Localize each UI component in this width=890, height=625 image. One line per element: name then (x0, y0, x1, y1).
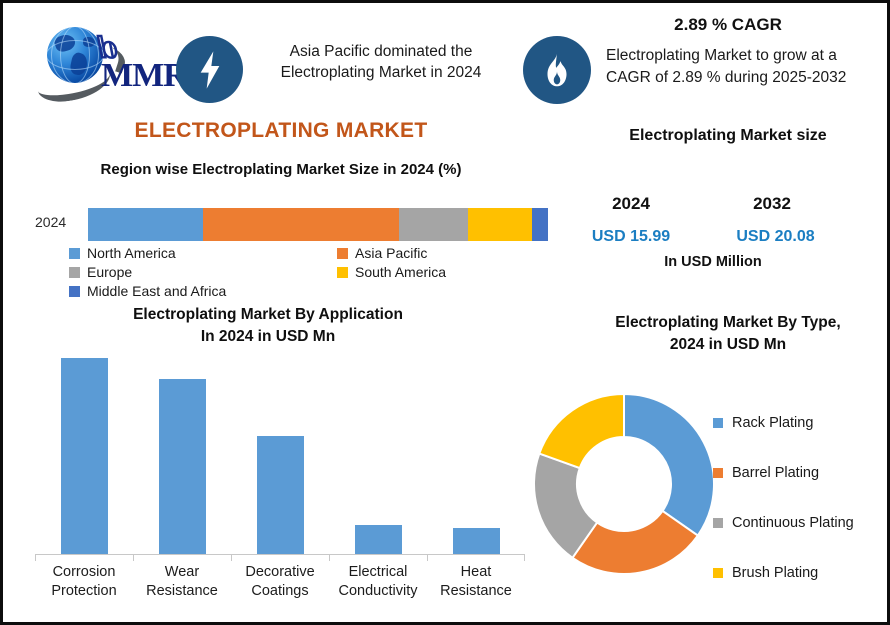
application-category-label: WearResistance (133, 563, 231, 602)
application-category-label-line: Resistance (427, 582, 525, 601)
application-bar-chart: CorrosionProtectionWearResistanceDecorat… (35, 348, 525, 558)
header-note: Asia Pacific dominated the Electroplatin… (255, 41, 507, 84)
stacked-segment (88, 208, 203, 241)
stacked-segment (532, 208, 548, 241)
application-axis-labels: CorrosionProtectionWearResistanceDecorat… (35, 563, 525, 613)
application-category-label: ElectricalConductivity (329, 563, 427, 602)
application-category-label-line: Wear (133, 563, 231, 582)
cagr-note-line1: Electroplating Market to grow at a (606, 45, 856, 67)
header-note-line2: Electroplating Market in 2024 (255, 62, 507, 83)
lightning-bolt-icon (176, 36, 243, 103)
application-bar (355, 525, 402, 554)
mmr-logo: ⅆ MMR (29, 21, 181, 99)
legend-swatch-icon (713, 468, 723, 478)
market-size-year-start: 2024 (586, 194, 676, 214)
application-plot-area (35, 348, 525, 554)
type-donut-chart (531, 391, 717, 577)
legend-item-north-america: North America (69, 245, 337, 261)
legend-label: Asia Pacific (355, 245, 427, 261)
header-note-line1: Asia Pacific dominated the (255, 41, 507, 62)
legend-label: Europe (87, 264, 132, 280)
application-category-label: DecorativeCoatings (231, 563, 329, 602)
legend-item-europe: Europe (69, 264, 337, 280)
legend-label: Rack Plating (732, 415, 813, 431)
cagr-value: 2.89 % CAGR (603, 15, 853, 35)
application-category-label: HeatResistance (427, 563, 525, 602)
page-title: ELECTROPLATING MARKET (3, 119, 559, 143)
application-bar (159, 379, 206, 554)
flame-icon (523, 36, 591, 104)
application-category-label: CorrosionProtection (35, 563, 133, 602)
application-category-label-line: Decorative (231, 563, 329, 582)
application-axis-tick (35, 554, 36, 561)
application-category-label-line: Heat (427, 563, 525, 582)
legend-item-south-america: South America (337, 264, 537, 280)
application-bar (61, 358, 108, 554)
market-size-unit: In USD Million (583, 254, 843, 270)
legend-swatch-icon (337, 267, 348, 278)
market-size-value-start: USD 15.99 (581, 228, 681, 246)
market-size-value-end: USD 20.08 (723, 228, 828, 246)
legend-swatch-icon (69, 267, 80, 278)
type-chart-title-line1: Electroplating Market By Type, (563, 312, 890, 334)
region-chart-title: Region wise Electroplating Market Size i… (3, 161, 559, 178)
stacked-bar-category-label: 2024 (35, 214, 66, 230)
application-category-label-line: Protection (35, 582, 133, 601)
application-axis-tick (231, 554, 232, 561)
application-category-label-line: Resistance (133, 582, 231, 601)
application-category-label-line: Electrical (329, 563, 427, 582)
donut-slice (539, 394, 624, 468)
application-chart-title-line2: In 2024 in USD Mn (33, 326, 503, 348)
application-axis-tick (133, 554, 134, 561)
legend-item-asia-pacific: Asia Pacific (337, 245, 537, 261)
legend-label: North America (87, 245, 176, 261)
legend-label: Continuous Plating (732, 515, 854, 531)
legend-label: Brush Plating (732, 565, 818, 581)
cagr-note: Electroplating Market to grow at a CAGR … (606, 45, 856, 88)
legend-item-continuous-plating: Continuous Plating (713, 498, 888, 548)
legend-item-brush-plating: Brush Plating (713, 548, 888, 598)
legend-label: Middle East and Africa (87, 283, 226, 299)
stacked-segment (399, 208, 468, 241)
application-category-label-line: Conductivity (329, 582, 427, 601)
legend-swatch-icon (69, 286, 80, 297)
legend-label: South America (355, 264, 446, 280)
region-legend: North America Asia Pacific Europe South … (69, 245, 539, 302)
stacked-segment (203, 208, 399, 241)
application-category-label-line: Corrosion (35, 563, 133, 582)
legend-swatch-icon (713, 518, 723, 528)
legend-swatch-icon (69, 248, 80, 259)
legend-item-rack-plating: Rack Plating (713, 398, 888, 448)
application-axis-tick (524, 554, 525, 561)
legend-item-middle-east-and-africa: Middle East and Africa (69, 283, 337, 299)
legend-item-barrel-plating: Barrel Plating (713, 448, 888, 498)
legend-swatch-icon (337, 248, 348, 259)
logo-wordmark: MMR (101, 57, 187, 95)
market-size-year-end: 2032 (727, 194, 817, 214)
application-axis-tick (329, 554, 330, 561)
application-bar (453, 528, 500, 554)
legend-label: Barrel Plating (732, 465, 819, 481)
market-size-title: Electroplating Market size (565, 127, 890, 145)
application-axis-tick (427, 554, 428, 561)
application-bar (257, 436, 304, 554)
infographic-canvas: ⅆ MMR Asia Pacific dominated the Electro… (0, 0, 890, 625)
application-chart-title: Electroplating Market By Application In … (33, 304, 503, 348)
type-chart-title-line2: 2024 in USD Mn (563, 334, 890, 356)
stacked-segment (468, 208, 532, 241)
legend-swatch-icon (713, 568, 723, 578)
legend-swatch-icon (713, 418, 723, 428)
application-axis-line (35, 554, 525, 555)
type-legend: Rack Plating Barrel Plating Continuous P… (713, 398, 888, 598)
region-stacked-bar (88, 208, 548, 241)
application-category-label-line: Coatings (231, 582, 329, 601)
application-chart-title-line1: Electroplating Market By Application (33, 304, 503, 326)
cagr-note-line2: CAGR of 2.89 % during 2025-2032 (606, 67, 856, 89)
type-chart-title: Electroplating Market By Type, 2024 in U… (563, 312, 890, 356)
